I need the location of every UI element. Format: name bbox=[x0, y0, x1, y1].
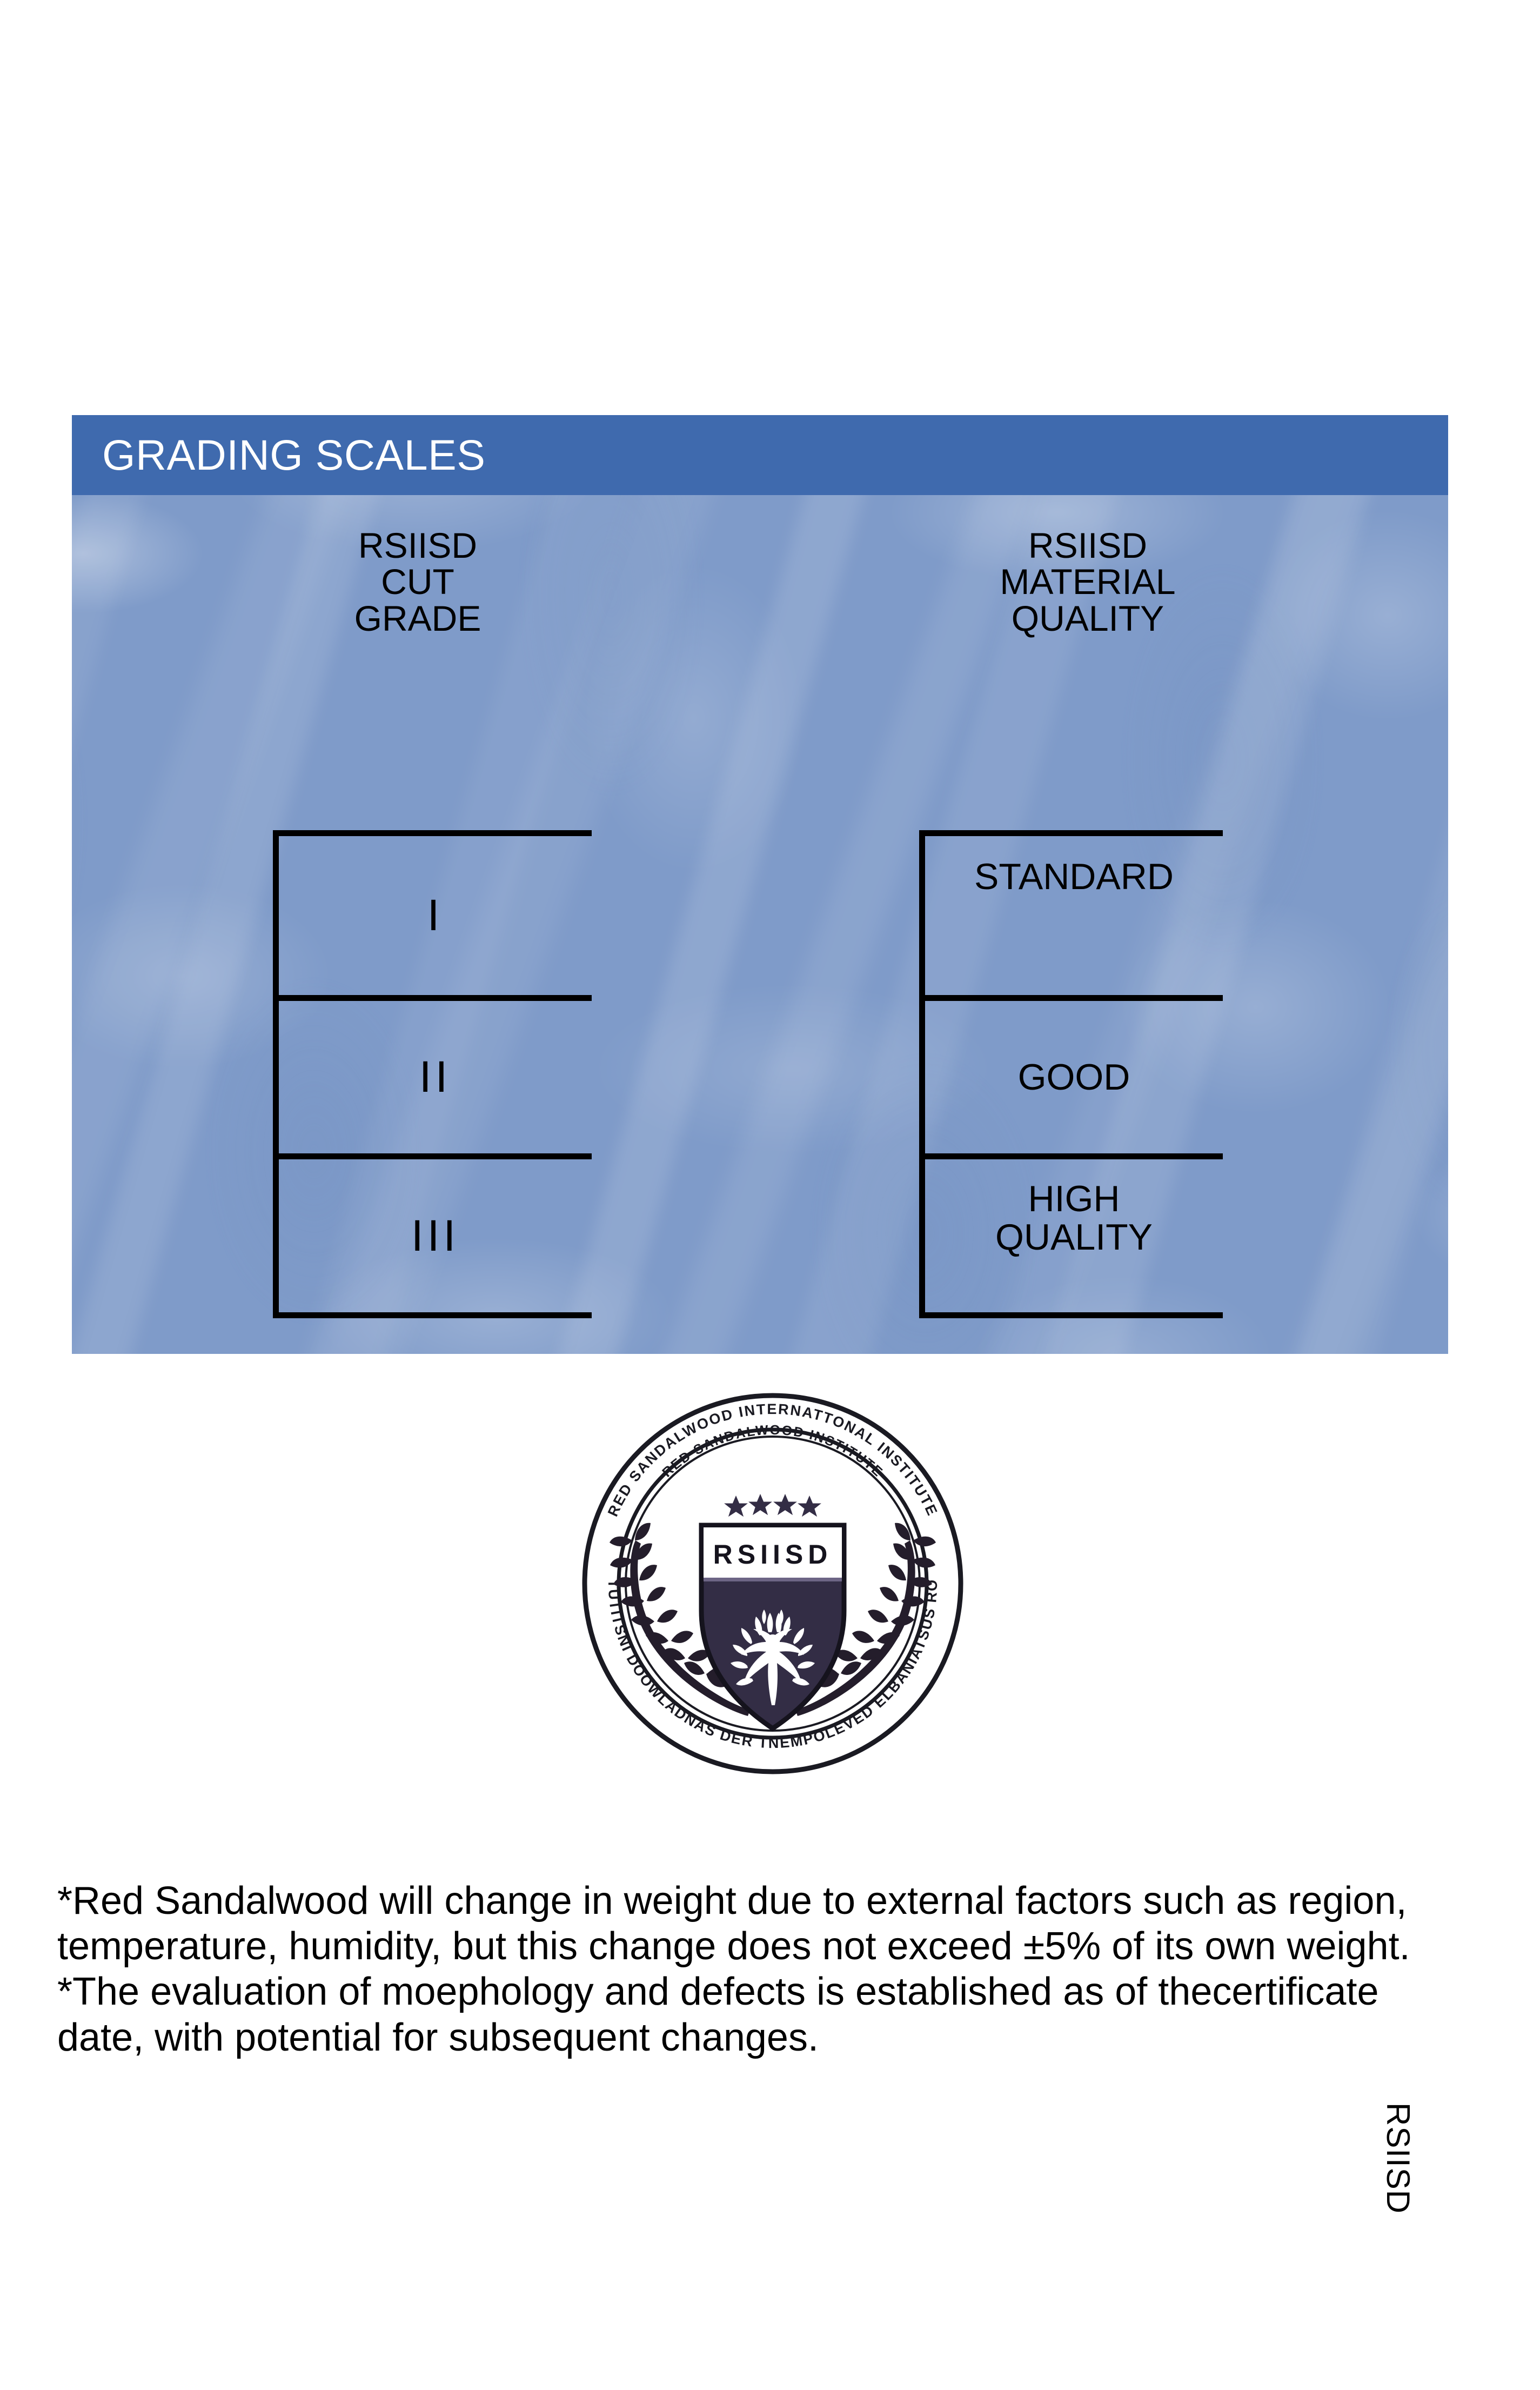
svg-text:RED SANDALWOOD INTERNATTONAL I: RED SANDALWOOD INTERNATTONAL INSTITUTE bbox=[605, 1401, 941, 1519]
seal-stars bbox=[724, 1494, 821, 1517]
cut-grade-row-2: II bbox=[279, 995, 592, 1154]
cut-grade-row-3: III bbox=[279, 1153, 592, 1312]
cut-grade-value-3: III bbox=[411, 1211, 459, 1261]
material-quality-value-1: STANDARD bbox=[974, 858, 1174, 896]
panel-body: RSIISD CUT GRADE I II III RSIISD MATERIA… bbox=[72, 495, 1448, 1354]
material-quality-scale-table: STANDARD GOOD HIGH QUALITY bbox=[919, 830, 1223, 1318]
cut-grade-row-1: I bbox=[279, 836, 592, 995]
cut-grade-scale-table: I II III bbox=[273, 830, 592, 1318]
material-quality-value-3: HIGH QUALITY bbox=[995, 1180, 1153, 1256]
cut-grade-value-1: I bbox=[427, 890, 444, 941]
side-watermark-rsiisd: RSIISD bbox=[1380, 2102, 1417, 2214]
footnotes-text: *Red Sandalwood will change in weight du… bbox=[57, 1878, 1462, 2060]
material-quality-column-heading: RSIISD MATERIAL QUALITY bbox=[893, 528, 1282, 637]
material-quality-row-3: HIGH QUALITY bbox=[925, 1153, 1223, 1312]
cut-grade-value-2: II bbox=[419, 1052, 452, 1103]
material-quality-row-2: GOOD bbox=[925, 995, 1223, 1154]
seal-shield-label: RSIISD bbox=[713, 1539, 833, 1570]
grading-scales-panel: GRADING SCALES RSIISD CUT GRADE I II III… bbox=[72, 415, 1448, 1354]
cut-grade-column-heading: RSIISD CUT GRADE bbox=[250, 528, 585, 637]
page-title: GRADING SCALES bbox=[102, 430, 485, 480]
rsiisd-seal-logo: RED SANDALWOOD INTERNATTONAL INSTITUTE E… bbox=[567, 1378, 978, 1789]
material-quality-value-2: GOOD bbox=[1018, 1058, 1130, 1097]
material-quality-row-1: STANDARD bbox=[925, 836, 1223, 995]
panel-header-bar: GRADING SCALES bbox=[72, 415, 1448, 495]
